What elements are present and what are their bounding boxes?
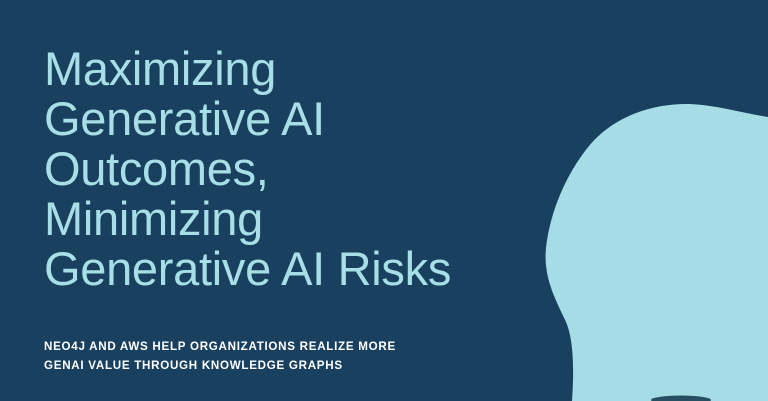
banner-content: Maximizing Generative AI Outcomes, Minim… (44, 44, 544, 375)
light-bulb-head-blob (546, 104, 768, 401)
page-title: Maximizing Generative AI Outcomes, Minim… (44, 44, 544, 294)
headline-line-4: Minimizing (44, 194, 544, 244)
promo-banner: Maximizing Generative AI Outcomes, Minim… (0, 0, 768, 401)
headline-line-1: Maximizing (44, 44, 544, 94)
subtitle-line-2: GENAI VALUE THROUGH KNOWLEDGE GRAPHS (44, 357, 544, 376)
headline-line-3: Outcomes, (44, 144, 544, 194)
subtitle-line-1: NEO4J AND AWS HELP ORGANIZATIONS REALIZE… (44, 338, 544, 357)
page-subtitle: NEO4J AND AWS HELP ORGANIZATIONS REALIZE… (44, 338, 544, 375)
blob-base-shadow (651, 396, 711, 401)
headline-line-2: Generative AI (44, 94, 544, 144)
headline-line-5: Generative AI Risks (44, 244, 544, 294)
